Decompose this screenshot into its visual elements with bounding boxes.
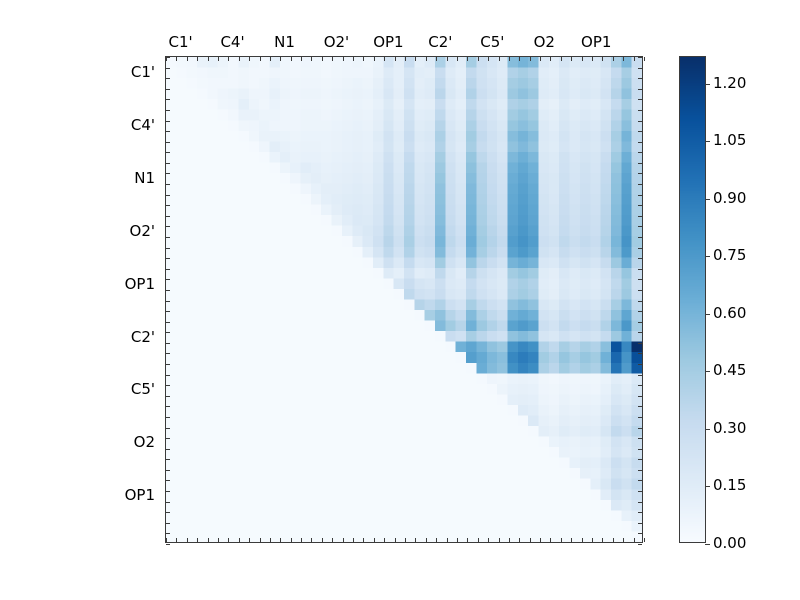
x-tick-label: O2 [534, 33, 555, 51]
colorbar-tick-label: 0.75 [713, 246, 746, 264]
x-tick-label: N1 [274, 33, 295, 51]
colorbar-tick-mark [705, 371, 710, 372]
y-tick-label: C1' [131, 63, 155, 81]
x-tick-mark [644, 538, 645, 542]
y-tick-label: O2 [134, 433, 155, 451]
x-tick-label: C5' [480, 33, 504, 51]
y-tick-label: C2' [131, 328, 155, 346]
colorbar-tick-label: 0.60 [713, 304, 746, 322]
y-tick-label: C4' [131, 116, 155, 134]
y-tick-label: OP1 [125, 486, 155, 504]
colorbar-tick-label: 0.45 [713, 361, 746, 379]
x-tick-label: O2' [324, 33, 349, 51]
heatmap-figure: C1'C4'N1O2'OP1C2'C5'O2OP1 C1'C4'N1O2'OP1… [0, 0, 800, 600]
colorbar-tick-label: 0.90 [713, 189, 746, 207]
heatmap-plot-area [165, 56, 643, 543]
y-tick-label: N1 [134, 169, 155, 187]
y-tick-label: O2' [130, 222, 155, 240]
colorbar-gradient [680, 57, 705, 542]
x-tick-label: C1' [169, 33, 193, 51]
colorbar-tick-mark [705, 486, 710, 487]
colorbar-tick-mark [705, 544, 710, 545]
colorbar-tick-mark [705, 84, 710, 85]
y-tick-label: OP1 [125, 275, 155, 293]
colorbar [679, 56, 706, 543]
colorbar-tick-label: 0.15 [713, 476, 746, 494]
heatmap-matrix [166, 57, 642, 542]
colorbar-tick-label: 0.00 [713, 534, 746, 552]
x-tick-mark [644, 57, 645, 61]
y-tick-mark [638, 544, 642, 545]
colorbar-tick-label: 1.20 [713, 74, 746, 92]
colorbar-tick-label: 1.05 [713, 131, 746, 149]
colorbar-tick-label: 0.30 [713, 419, 746, 437]
x-tick-label: C2' [428, 33, 452, 51]
y-tick-mark [166, 544, 170, 545]
x-tick-label: OP1 [373, 33, 403, 51]
y-tick-label: C5' [131, 380, 155, 398]
colorbar-tick-mark [705, 199, 710, 200]
colorbar-tick-mark [705, 256, 710, 257]
x-tick-label: OP1 [581, 33, 611, 51]
colorbar-tick-mark [705, 314, 710, 315]
x-tick-label: C4' [220, 33, 244, 51]
colorbar-tick-mark [705, 429, 710, 430]
colorbar-tick-mark [705, 141, 710, 142]
